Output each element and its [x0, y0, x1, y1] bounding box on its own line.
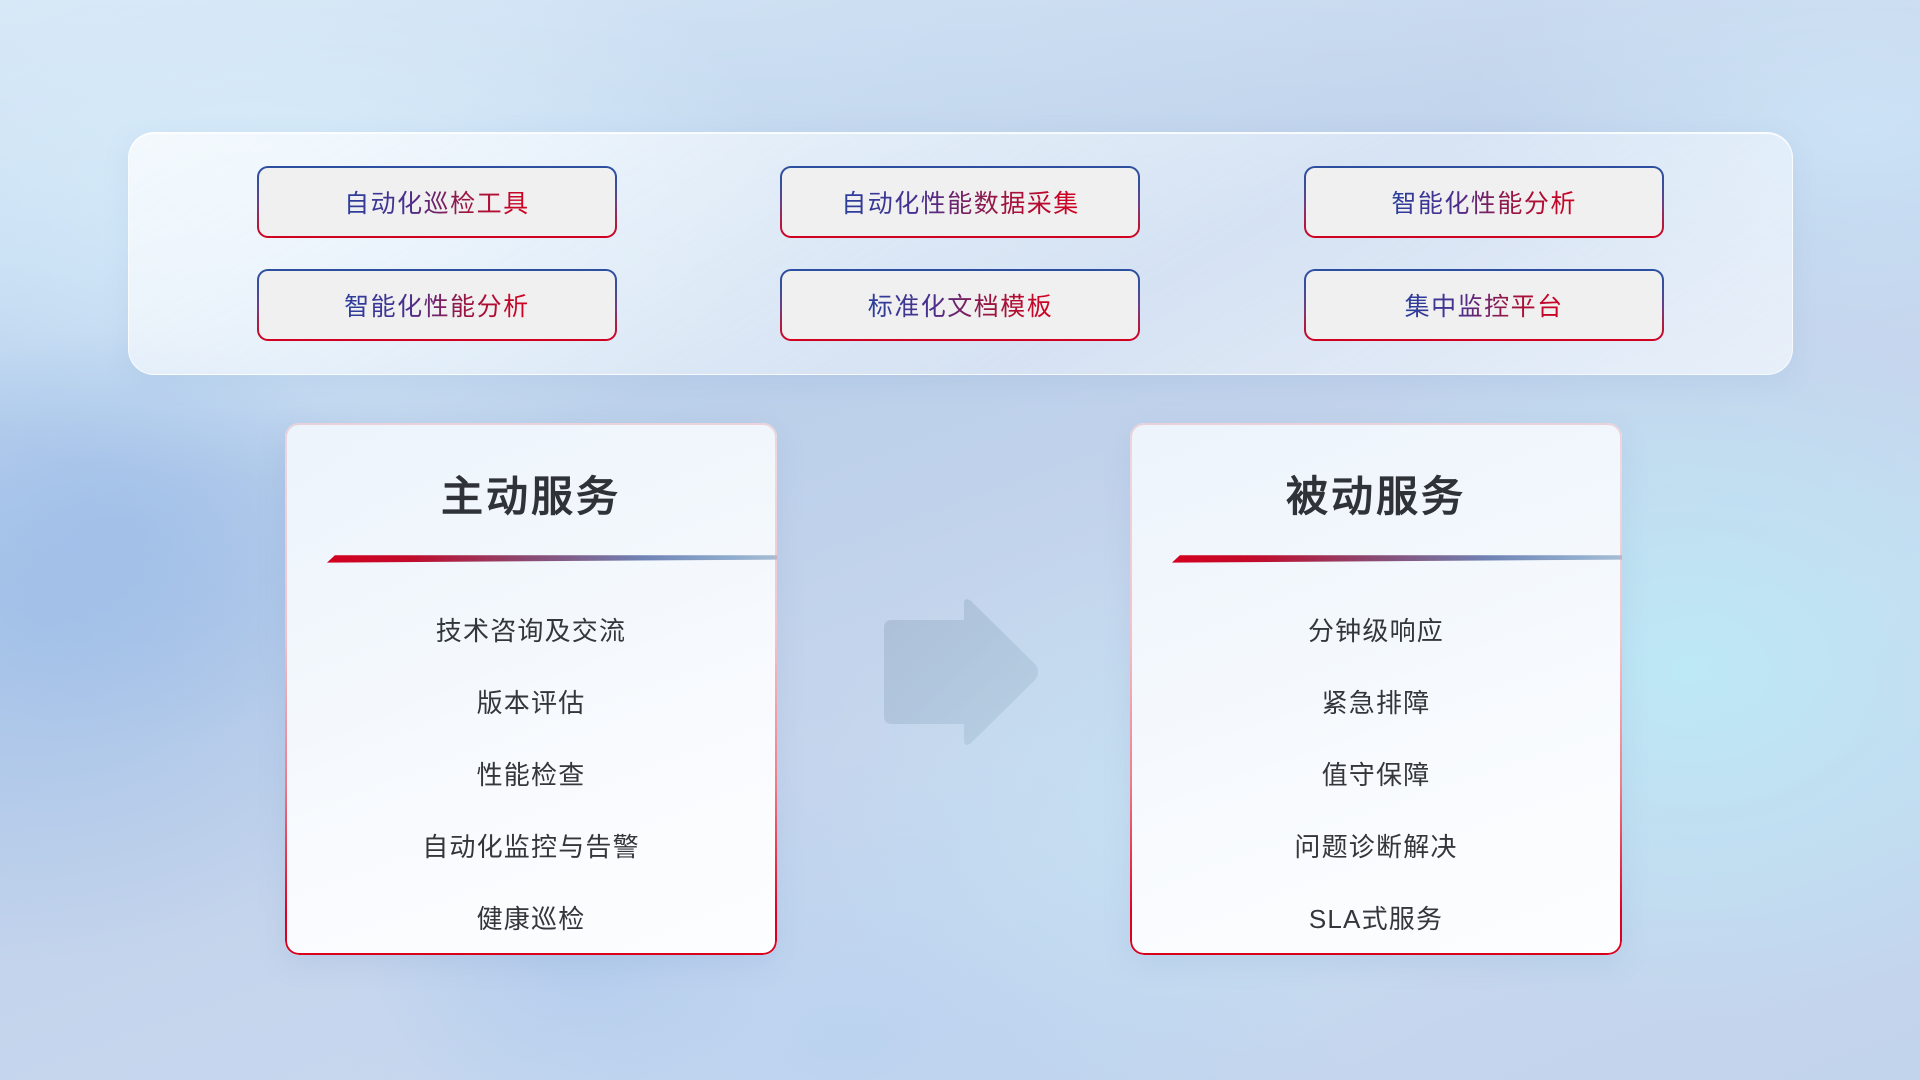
- slide-canvas: 自动化巡检工具 自动化性能数据采集 智能化性能分析 智能化性能分析 标准化文档模…: [0, 0, 1920, 1080]
- service-item: 健康巡检: [477, 883, 586, 955]
- service-card-title: 主动服务: [285, 463, 777, 524]
- capability-tags-panel: 自动化巡检工具 自动化性能数据采集 智能化性能分析 智能化性能分析 标准化文档模…: [128, 132, 1793, 375]
- service-card-title: 被动服务: [1130, 463, 1622, 524]
- capability-tag-label: 集中监控平台: [1405, 287, 1564, 323]
- title-accent-bar: [1166, 550, 1622, 566]
- service-item: 值守保障: [1322, 739, 1431, 811]
- service-item: 紧急排障: [1322, 667, 1431, 739]
- service-item: 问题诊断解决: [1294, 811, 1457, 883]
- service-item-list: 分钟级响应 紧急排障 值守保障 问题诊断解决 SLA式服务: [1130, 595, 1622, 955]
- capability-tag[interactable]: 标准化文档模板: [782, 271, 1138, 339]
- service-item: 分钟级响应: [1308, 595, 1444, 667]
- right-arrow-icon: [878, 598, 1040, 746]
- capability-tag[interactable]: 集中监控平台: [1306, 271, 1662, 339]
- service-item: 自动化监控与告警: [422, 811, 640, 883]
- service-item: 技术咨询及交流: [436, 595, 626, 667]
- service-card-active[interactable]: 主动服务 技术咨询及交流 版本评估 性能检查: [285, 423, 777, 955]
- service-item-list: 技术咨询及交流 版本评估 性能检查 自动化监控与告警 健康巡检: [285, 595, 777, 955]
- capability-tag-grid: 自动化巡检工具 自动化性能数据采集 智能化性能分析 智能化性能分析 标准化文档模…: [129, 133, 1792, 374]
- service-item: SLA式服务: [1309, 883, 1443, 955]
- title-accent-bar: [321, 550, 777, 566]
- service-item: 性能检查: [477, 739, 586, 811]
- capability-tag-label: 智能化性能分析: [344, 287, 530, 323]
- capability-tag[interactable]: 自动化巡检工具: [259, 168, 615, 236]
- capability-tag[interactable]: 智能化性能分析: [1306, 168, 1662, 236]
- capability-tag[interactable]: 自动化性能数据采集: [782, 168, 1138, 236]
- capability-tag-label: 自动化巡检工具: [344, 184, 530, 220]
- capability-tag[interactable]: 智能化性能分析: [259, 271, 615, 339]
- capability-tag-label: 标准化文档模板: [868, 287, 1054, 323]
- capability-tag-label: 自动化性能数据采集: [841, 184, 1080, 220]
- capability-tag-label: 智能化性能分析: [1391, 184, 1577, 220]
- service-card-passive[interactable]: 被动服务 分钟级响应 紧急排障 值守保障: [1130, 423, 1622, 955]
- service-item: 版本评估: [477, 667, 586, 739]
